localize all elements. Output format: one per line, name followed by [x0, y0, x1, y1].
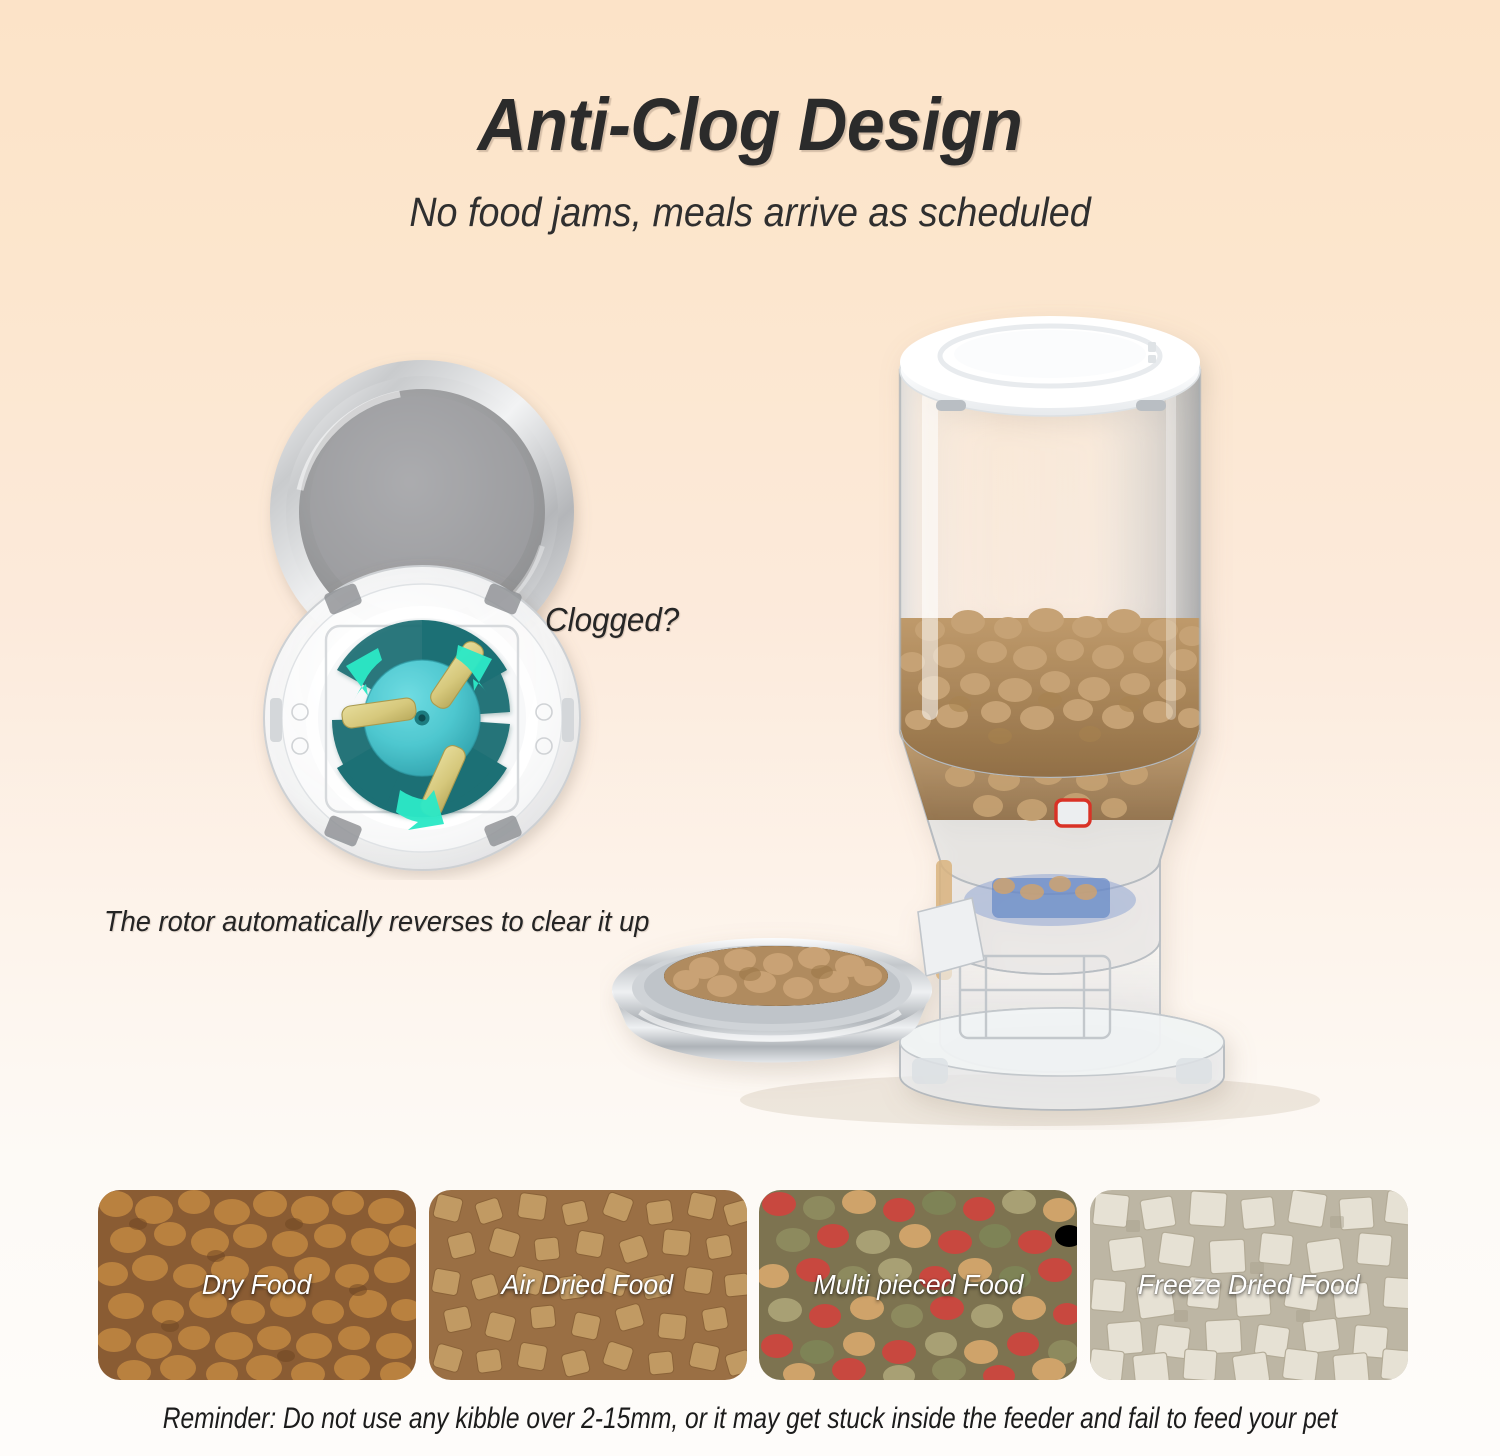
feeder-product-image [600, 300, 1340, 1130]
kibble-in-hopper [899, 608, 1205, 788]
food-tile-label: Air Dried Food [502, 1269, 673, 1301]
food-tile-freeze-dried-food[interactable]: Freeze Dried Food [1090, 1190, 1408, 1380]
food-tile-air-dried-food[interactable]: Air Dried Food [429, 1190, 747, 1380]
reminder-text: Reminder: Do not use any kibble over 2-1… [135, 1402, 1365, 1436]
food-tile-label: Dry Food [202, 1269, 311, 1301]
food-tile-label: Multi pieced Food [813, 1269, 1023, 1301]
food-type-tiles: Dry Food [98, 1190, 1408, 1380]
page-subtitle: No food jams, meals arrive as scheduled [60, 192, 1440, 233]
kibble-in-bowl [664, 946, 888, 1006]
header-block: Anti-Clog Design No food jams, meals arr… [0, 88, 1500, 233]
indicator-badge [1056, 800, 1090, 826]
feeder-lid [900, 316, 1200, 416]
food-tile-multi-pieced-food[interactable]: Multi pieced Food [759, 1190, 1077, 1380]
rotor-caption: The rotor automatically reverses to clea… [104, 906, 649, 939]
page-title: Anti-Clog Design [60, 88, 1440, 162]
food-tile-label: Freeze Dried Food [1138, 1269, 1360, 1301]
food-bowl [612, 938, 932, 1062]
food-tile-dry-food[interactable]: Dry Food [98, 1190, 416, 1380]
